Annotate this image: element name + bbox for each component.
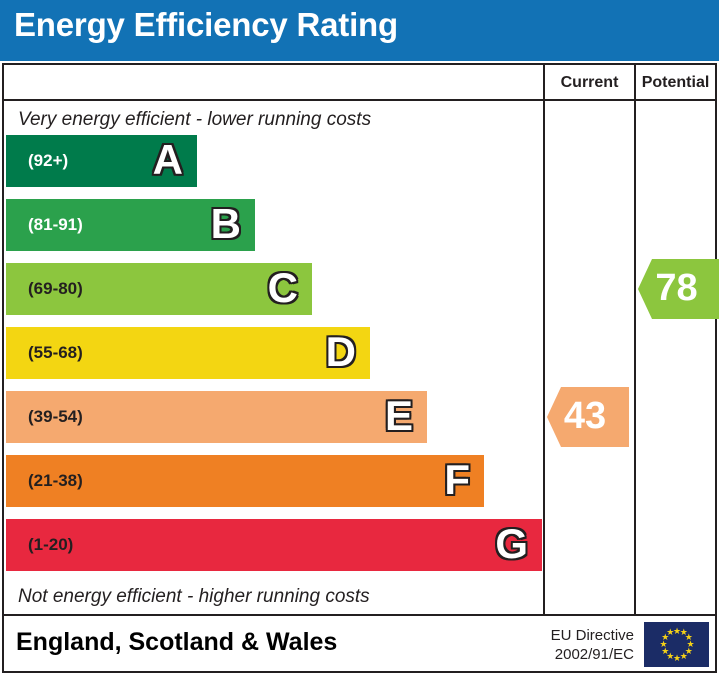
footer-region-label: England, Scotland & Wales xyxy=(16,628,337,657)
current-rating-value: 43 xyxy=(547,397,623,435)
current-rating-arrow: 43 xyxy=(547,387,629,447)
potential-rating-arrow: 78 xyxy=(638,259,719,319)
band-bar-g: (1-20)G xyxy=(6,519,542,571)
band-letter-g: G xyxy=(495,523,528,565)
band-range-d: (55-68) xyxy=(28,343,83,363)
band-letter-e: E xyxy=(385,395,413,437)
band-bars: (92+)A(81-91)B(69-80)C(55-68)D(39-54)E(2… xyxy=(4,135,543,585)
caption-top: Very energy efficient - lower running co… xyxy=(18,109,371,131)
footer: England, Scotland & Wales EU Directive 2… xyxy=(4,616,715,673)
eu-flag-icon: ★★★★★★★★★★★★ xyxy=(644,622,709,667)
eu-star-icon: ★ xyxy=(673,655,680,662)
band-bar-d: (55-68)D xyxy=(6,327,370,379)
page-title: Energy Efficiency Rating xyxy=(14,6,398,44)
band-range-c: (69-80) xyxy=(28,279,83,299)
band-bar-f: (21-38)F xyxy=(6,455,484,507)
rating-table-frame: Current Potential Very energy efficient … xyxy=(2,63,717,673)
eu-directive-text: EU Directive 2002/91/EC xyxy=(524,626,634,664)
eu-directive-line2: 2002/91/EC xyxy=(524,645,634,664)
band-range-g: (1-20) xyxy=(28,535,73,555)
column-header-potential: Potential xyxy=(636,71,715,95)
caption-bottom: Not energy efficient - higher running co… xyxy=(18,586,370,608)
current-column-divider xyxy=(543,65,545,616)
band-bar-a: (92+)A xyxy=(6,135,197,187)
eu-directive-line1: EU Directive xyxy=(524,626,634,645)
potential-column-divider xyxy=(634,65,636,616)
band-range-b: (81-91) xyxy=(28,215,83,235)
potential-rating-value: 78 xyxy=(638,269,715,307)
band-range-e: (39-54) xyxy=(28,407,83,427)
band-bar-e: (39-54)E xyxy=(6,391,427,443)
band-bar-b: (81-91)B xyxy=(6,199,255,251)
eu-star-icon: ★ xyxy=(660,641,667,648)
band-bar-c: (69-80)C xyxy=(6,263,312,315)
band-letter-b: B xyxy=(211,203,241,245)
title-bar: Energy Efficiency Rating xyxy=(0,0,719,61)
band-letter-d: D xyxy=(326,331,356,373)
band-letter-c: C xyxy=(268,267,298,309)
energy-efficiency-rating-certificate: Energy Efficiency Rating Current Potenti… xyxy=(0,0,719,675)
band-letter-f: F xyxy=(444,459,470,501)
band-letter-a: A xyxy=(153,139,183,181)
band-range-f: (21-38) xyxy=(28,471,83,491)
band-range-a: (92+) xyxy=(28,151,68,171)
header-divider xyxy=(4,99,715,101)
eu-star-icon: ★ xyxy=(666,629,673,636)
column-header-current: Current xyxy=(545,71,634,95)
